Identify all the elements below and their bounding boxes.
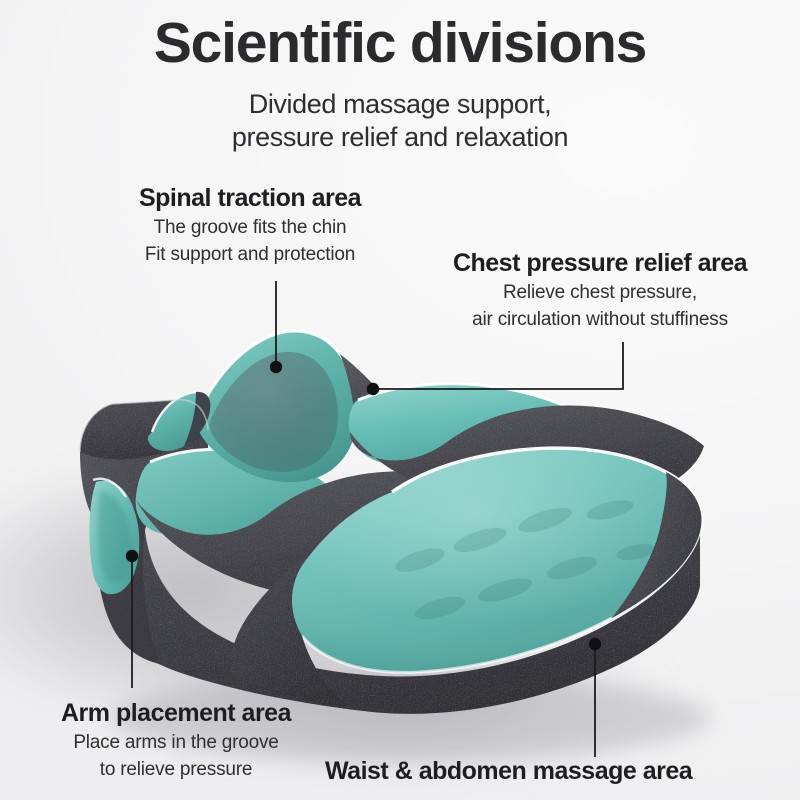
callout-desc-arm-placement-line-2: to relieve pressure [16, 758, 336, 782]
page-subtitle-line-1: Divided massage support, [0, 88, 800, 121]
callout-heading-chest-pressure: Chest pressure relief area [405, 248, 795, 278]
callout-desc-spinal-traction-line-1: The groove fits the chin [105, 216, 395, 240]
callout-arm-placement: Arm placement area Place arms in the gro… [16, 698, 336, 782]
page-subtitle: Divided massage support, pressure relief… [0, 88, 800, 154]
callout-waist-abdomen-massage: Waist & abdomen massage area [325, 756, 795, 786]
callout-heading-arm-placement: Arm placement area [16, 698, 336, 728]
callout-spinal-traction: Spinal traction area The groove fits the… [105, 183, 395, 267]
infographic-canvas: Scientific divisions Divided massage sup… [0, 0, 800, 800]
callout-heading-waist-abdomen: Waist & abdomen massage area [325, 756, 795, 786]
callout-desc-chest-pressure-line-2: air circulation without stuffiness [405, 308, 795, 332]
callout-chest-pressure-relief: Chest pressure relief area Relieve chest… [405, 248, 795, 332]
page-subtitle-line-2: pressure relief and relaxation [0, 121, 800, 154]
product-body [80, 331, 704, 714]
callout-desc-spinal-traction-line-2: Fit support and protection [105, 243, 395, 267]
callout-desc-chest-pressure-line-1: Relieve chest pressure, [405, 281, 795, 305]
callout-heading-spinal-traction: Spinal traction area [105, 183, 395, 213]
page-title: Scientific divisions [0, 10, 800, 76]
callout-desc-arm-placement-line-1: Place arms in the groove [16, 731, 336, 755]
